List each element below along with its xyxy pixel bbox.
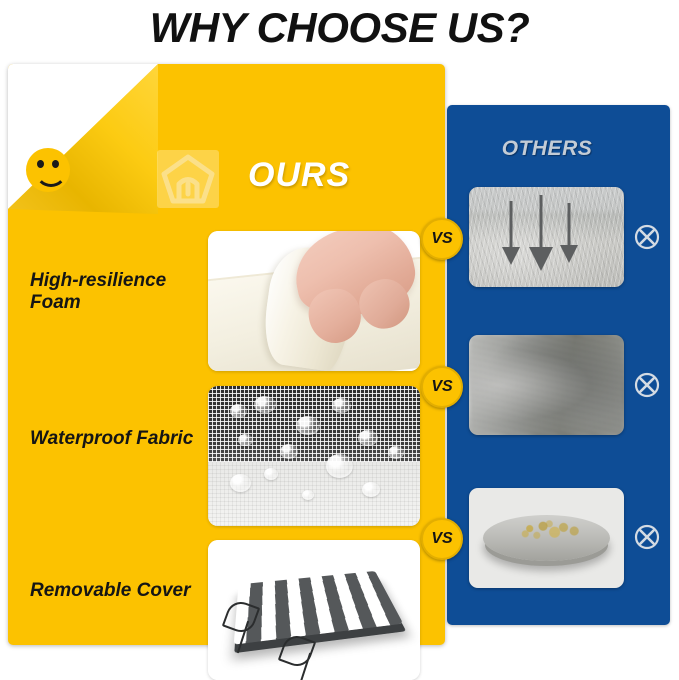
water-droplet (388, 446, 404, 459)
circle-x-icon (633, 523, 661, 551)
house-pentagon-logo-icon (157, 150, 219, 208)
feature-label-removable-cover: Removable Cover (30, 580, 210, 602)
water-droplet (358, 430, 378, 446)
feature-label-high-resilience-foam: High-resilience Foam (30, 270, 210, 315)
compressing-fibre-photo (469, 187, 624, 287)
water-droplet (302, 490, 314, 500)
ours-panel: OURS High-resilience Foam Waterproof Fab… (8, 64, 445, 645)
water-droplet (332, 398, 351, 413)
water-droplet (296, 416, 320, 435)
smiley-mouth (35, 165, 67, 187)
wet-fabric-texture (469, 335, 624, 435)
ours-heading: OURS (248, 156, 350, 195)
wet-fabric-photo (469, 335, 624, 435)
water-droplet (362, 482, 380, 497)
water-droplet (326, 454, 353, 478)
fabric-lower (208, 462, 420, 526)
page-title: WHY CHOOSE US? (0, 0, 679, 56)
hand-bending-foam-photo (208, 231, 420, 371)
round-cushion-shape (483, 515, 610, 561)
smiley-face-icon (26, 148, 70, 192)
vs-badge: VS (421, 518, 463, 560)
water-droplet (254, 396, 276, 413)
water-droplet (230, 474, 251, 492)
others-heading: OTHERS (447, 137, 647, 161)
vs-badge: VS (421, 218, 463, 260)
feature-label-waterproof-fabric: Waterproof Fabric (30, 428, 210, 450)
water-droplet (230, 404, 247, 418)
circle-x-icon (633, 223, 661, 251)
waterproof-fabric-photo (208, 386, 420, 526)
stained-cushion-photo (469, 488, 624, 588)
vs-badge: VS (421, 366, 463, 408)
water-droplet (280, 444, 298, 459)
water-droplet (238, 434, 253, 446)
circle-x-icon (633, 371, 661, 399)
water-droplet (264, 468, 278, 480)
fibre-texture (469, 187, 624, 287)
striped-cushion-photo (208, 540, 420, 680)
